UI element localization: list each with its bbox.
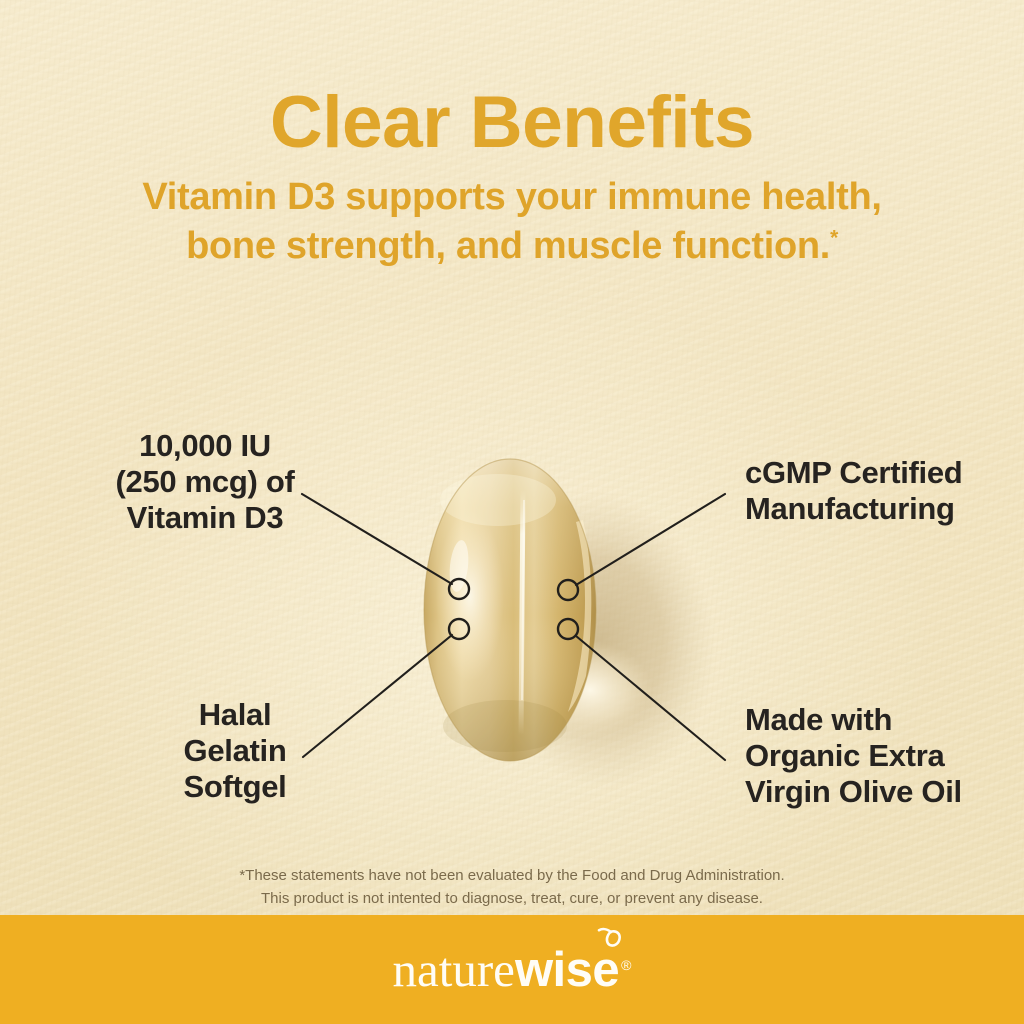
- header: Clear Benefits Vitamin D3 supports your …: [0, 86, 1024, 270]
- disclaimer-line-1: *These statements have not been evaluate…: [0, 864, 1024, 887]
- callout-label-cgmp: cGMP Certified Manufacturing: [745, 455, 1020, 527]
- leader-line-olive-oil: [576, 636, 725, 760]
- leader-line-cgmp: [576, 494, 725, 585]
- page-subtitle: Vitamin D3 supports your immune health, …: [0, 173, 1024, 270]
- leader-lines: [302, 494, 725, 760]
- softgel-capsule: [424, 459, 596, 761]
- anchor-marker-olive-oil: [558, 619, 578, 639]
- brand-logo: naturewise®: [393, 941, 632, 998]
- disclaimer-line-2: This product is not intented to diagnose…: [0, 887, 1024, 910]
- capsule-seam: [521, 490, 523, 735]
- subtitle-asterisk: *: [830, 226, 838, 249]
- callout-label-potency: 10,000 IU (250 mcg) of Vitamin D3: [60, 428, 350, 536]
- anchor-marker-potency: [449, 579, 469, 599]
- capsule-bounce-light: [528, 642, 652, 738]
- anchor-marker-softgel: [449, 619, 469, 639]
- subtitle-line-1: Vitamin D3 supports your immune health,: [142, 176, 881, 218]
- subtitle-line-2: bone strength, and muscle function.: [186, 225, 830, 267]
- fda-disclaimer: *These statements have not been evaluate…: [0, 864, 1024, 911]
- callout-label-olive-oil: Made with Organic Extra Virgin Olive Oil: [745, 702, 1020, 810]
- capsule-highlight: [436, 510, 504, 682]
- registered-trademark-mark: ®: [621, 957, 631, 973]
- anchor-markers: [449, 579, 578, 639]
- brand-name-nature: nature: [393, 941, 515, 998]
- page-title: Clear Benefits: [0, 86, 1024, 159]
- leaf-icon: [590, 925, 624, 951]
- capsule-shadow: [470, 479, 730, 801]
- callout-label-softgel: Halal Gelatin Softgel: [120, 697, 350, 805]
- footer-bar: naturewise®: [0, 915, 1024, 1024]
- infographic-page: Clear Benefits Vitamin D3 supports your …: [0, 0, 1024, 1024]
- anchor-marker-cgmp: [558, 580, 578, 600]
